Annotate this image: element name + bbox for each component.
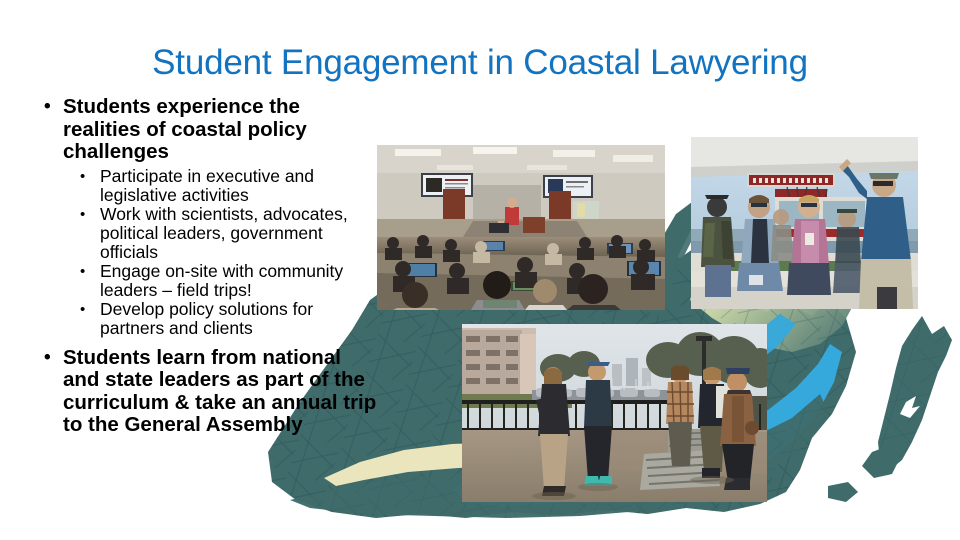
bullet-level1: • Students learn from national and state… bbox=[30, 347, 382, 437]
bullet-glyph: • bbox=[80, 167, 85, 186]
bullet-level2: • Work with scientists, advocates, polit… bbox=[70, 205, 382, 262]
bullet-level2-text: Engage on-site with community leaders – … bbox=[100, 262, 382, 300]
bullet-glyph: • bbox=[44, 96, 51, 119]
slide-canvas: Student Engagement in Coastal Lawyering … bbox=[0, 0, 960, 540]
boat-field-trip-photo bbox=[691, 137, 918, 309]
bullet-glyph: • bbox=[80, 262, 85, 281]
map-eastern-shore bbox=[878, 316, 952, 470]
bullet-level2-text: Develop policy solutions for partners an… bbox=[100, 300, 382, 338]
bullet-level2-text: Work with scientists, advocates, politic… bbox=[100, 205, 382, 262]
bullet-level2: • Develop policy solutions for partners … bbox=[70, 300, 382, 338]
bullet-content: • Students experience the realities of c… bbox=[30, 96, 382, 439]
bullet-level1: • Students experience the realities of c… bbox=[30, 96, 382, 164]
map-islands bbox=[828, 446, 900, 502]
sub-bullet-list: • Participate in executive and legislati… bbox=[30, 167, 382, 338]
bullet-level1-text: Students learn from national and state l… bbox=[63, 347, 382, 437]
bullet-glyph: • bbox=[80, 300, 85, 319]
person-student-cap bbox=[584, 362, 612, 486]
bullet-level1-text: Students experience the realities of coa… bbox=[63, 96, 382, 164]
bullet-glyph: • bbox=[80, 205, 85, 224]
bullet-level2: • Engage on-site with community leaders … bbox=[70, 262, 382, 300]
slide-title: Student Engagement in Coastal Lawyering bbox=[60, 41, 900, 85]
bullet-glyph: • bbox=[44, 347, 51, 370]
classroom-lecture-photo bbox=[377, 145, 665, 310]
bullet-level2: • Participate in executive and legislati… bbox=[70, 167, 382, 205]
bullet-level2-text: Participate in executive and legislative… bbox=[100, 167, 382, 205]
waterfront-walk-photo bbox=[462, 324, 767, 502]
